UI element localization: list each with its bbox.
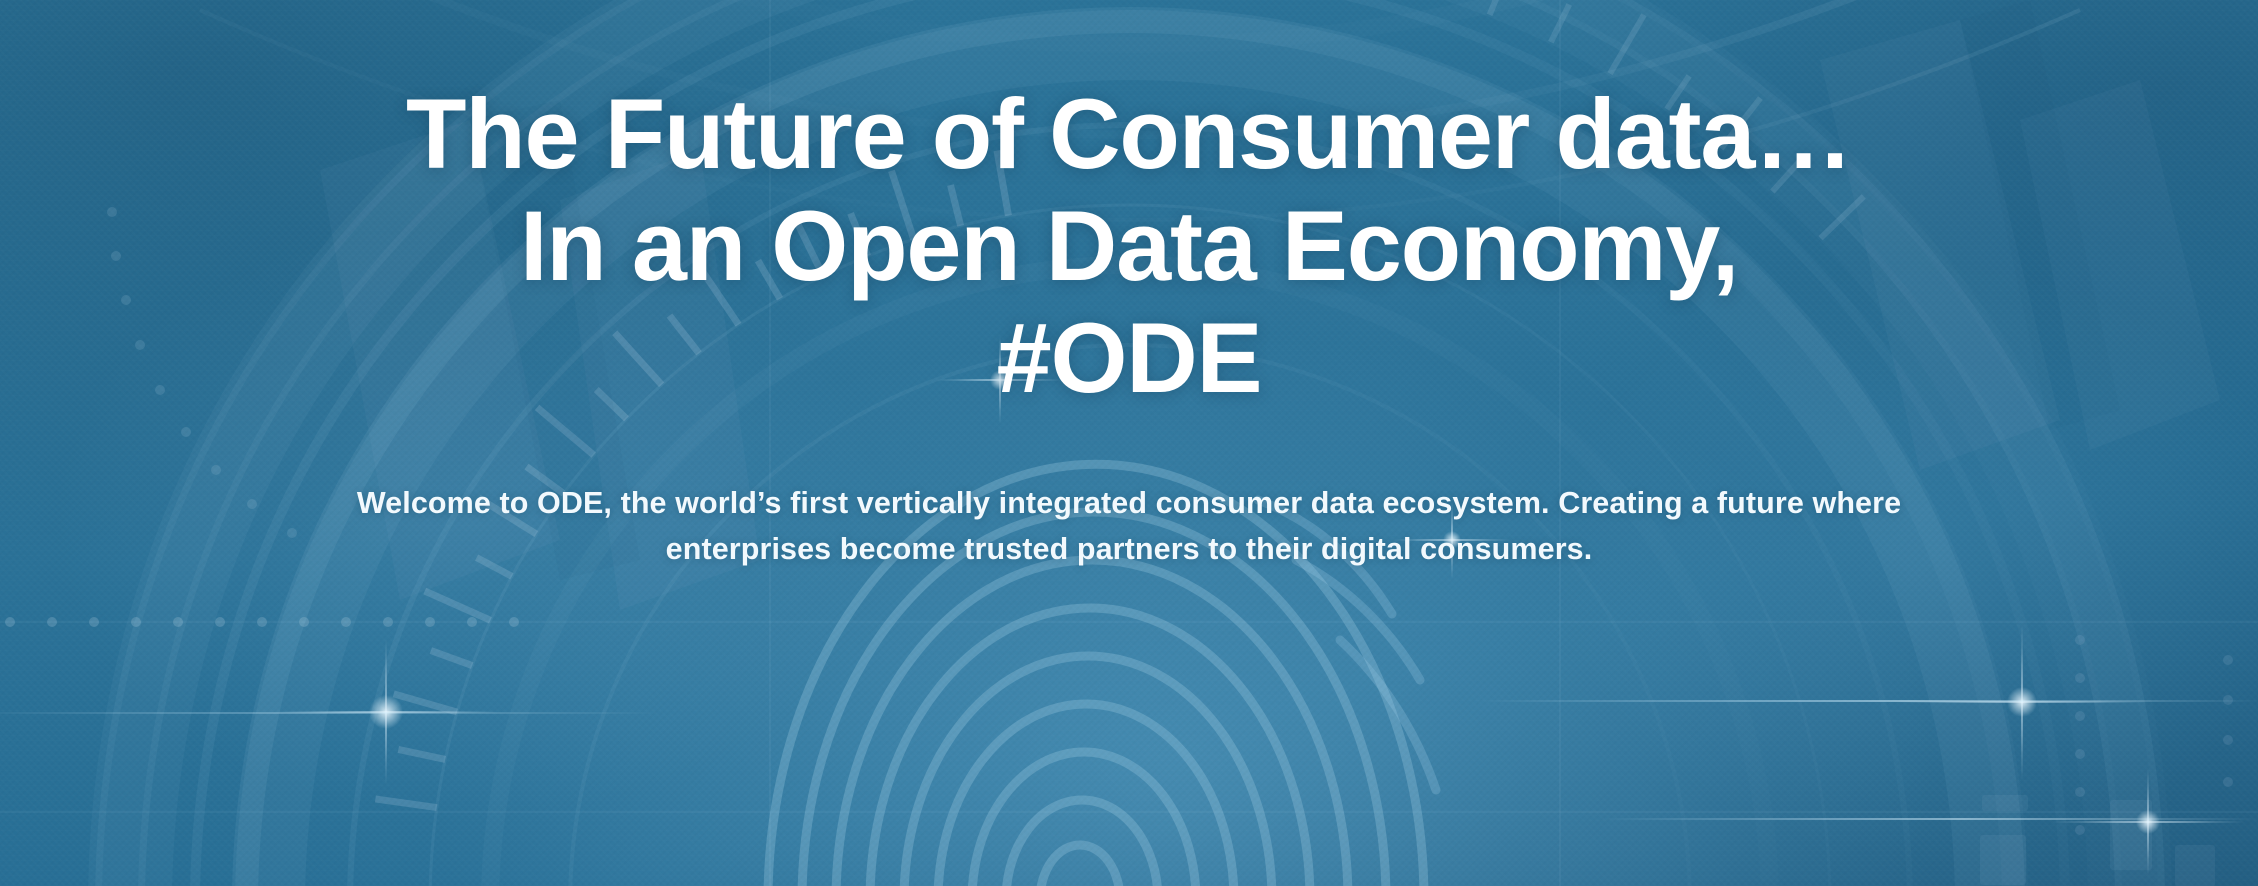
- page-title: The Future of Consumer data… In an Open …: [9, 78, 2249, 414]
- hero-content: The Future of Consumer data… In an Open …: [0, 0, 2258, 886]
- headline-line-3: #ODE: [9, 302, 2249, 414]
- headline-line-2: In an Open Data Economy,: [9, 190, 2249, 302]
- headline-line-1: The Future of Consumer data…: [9, 78, 2249, 190]
- hero-banner: The Future of Consumer data… In an Open …: [0, 0, 2258, 886]
- hero-subheadline: Welcome to ODE, the world’s first vertic…: [309, 480, 1949, 572]
